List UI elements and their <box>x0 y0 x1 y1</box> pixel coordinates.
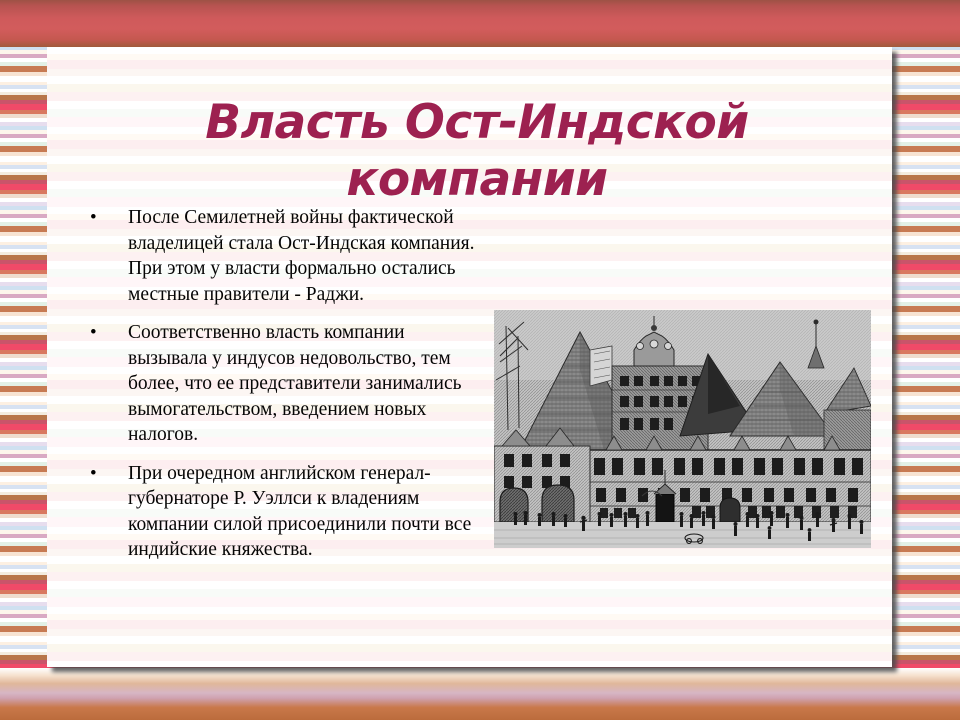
engraving-image <box>494 310 871 548</box>
background-bottom-band <box>0 668 960 720</box>
content-panel: Власть Ост-Индской компании • После Семи… <box>47 47 892 667</box>
background-top-band <box>0 0 960 47</box>
engraving-illustration <box>494 310 871 548</box>
list-item: • Соответственно власть компании вызывал… <box>84 320 484 448</box>
list-item-text: Соответственно власть компании вызывала … <box>128 322 462 445</box>
slide-title: Власть Ост-Индской компании <box>107 94 847 208</box>
bullet-point-icon: • <box>90 461 97 487</box>
bullet-list: • После Семилетней войны фактической вла… <box>84 205 484 576</box>
list-item-text: После Семилетней войны фактической владе… <box>128 207 475 305</box>
presentation-slide: Власть Ост-Индской компании • После Семи… <box>0 0 960 720</box>
bullet-point-icon: • <box>90 205 97 231</box>
list-item: • При очередном английском генерал-губер… <box>84 461 484 563</box>
bullet-point-icon: • <box>90 320 97 346</box>
list-item-text: При очередном английском генерал-губерна… <box>128 463 471 561</box>
list-item: • После Семилетней войны фактической вла… <box>84 205 484 307</box>
